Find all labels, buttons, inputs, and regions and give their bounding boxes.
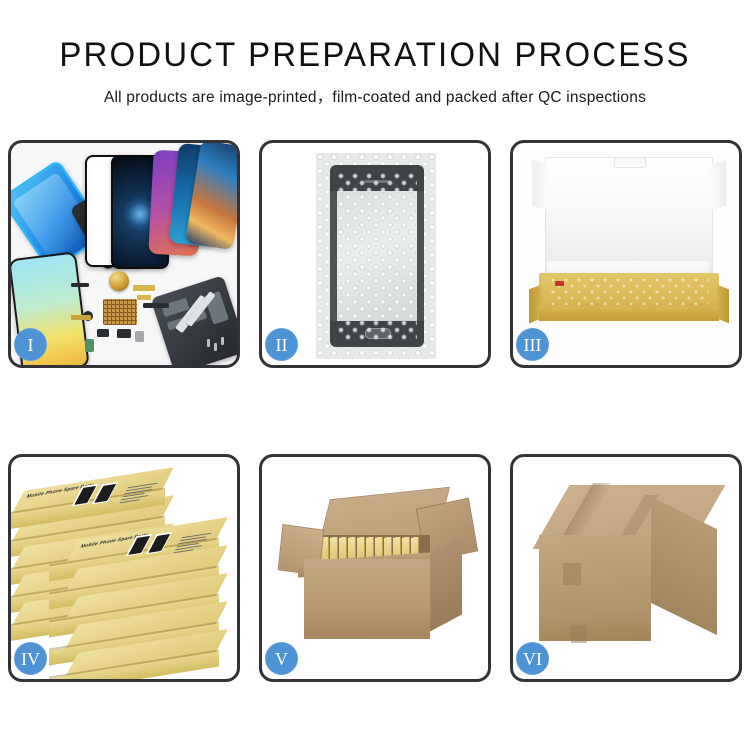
step-panel-2[interactable]: II [259, 140, 491, 368]
lid-left-wing [532, 160, 548, 211]
screw [207, 339, 210, 347]
gold-coil-part [109, 271, 129, 291]
small-part [143, 303, 169, 308]
open-shipping-carton [292, 497, 452, 642]
flex-cable [137, 295, 151, 300]
step-panel-1[interactable]: I [8, 140, 240, 368]
red-label-mark [555, 281, 564, 286]
carton-seam-mark [571, 625, 587, 643]
sealed-shipping-carton [533, 485, 725, 655]
steps-row-1: I II [8, 140, 742, 368]
carton-seam-mark [563, 563, 581, 585]
screw [214, 343, 217, 351]
small-part [85, 339, 94, 352]
steps-row-2: Mobile Phone Spare Parts Mobile Phone Sp… [8, 454, 742, 682]
page-header: PRODUCT PREPARATION PROCESS All products… [0, 0, 750, 106]
step-badge-1: I [14, 328, 47, 361]
step-panel-3[interactable]: III [510, 140, 742, 368]
page-subtitle: All products are image-printed，film-coat… [0, 90, 750, 106]
white-box-lid [545, 157, 713, 275]
screen-glass-panel [330, 165, 424, 347]
bubble-wrapped-screen-image [262, 143, 488, 365]
single-box-packed-image [513, 143, 739, 365]
box-stack: Mobile Phone Spare Parts Mobile Phone Sp… [13, 471, 237, 677]
small-part [97, 329, 109, 337]
flex-cable [133, 285, 155, 291]
step-panel-4[interactable]: Mobile Phone Spare Parts Mobile Phone Sp… [8, 454, 240, 682]
stacked-box [69, 641, 219, 661]
sealed-carton-image [513, 457, 739, 679]
carton-front-face [304, 559, 430, 639]
mesh-grid-part [103, 299, 137, 325]
wrapped-screen-in-box [549, 277, 709, 305]
screw [221, 337, 224, 345]
step-badge-2: II [265, 328, 298, 361]
page-title: PRODUCT PREPARATION PROCESS [11, 38, 739, 72]
small-part [117, 329, 131, 338]
flex-cable [71, 315, 91, 320]
bubble-overlay [337, 172, 417, 340]
step-panel-6[interactable]: VI [510, 454, 742, 682]
phone-parts-collage-image [11, 143, 237, 365]
kraft-box-tray [539, 273, 719, 321]
step-badge-6: VI [516, 642, 549, 675]
step-badge-4: IV [14, 642, 47, 675]
step-badge-3: III [516, 328, 549, 361]
process-steps-grid: I II [8, 140, 742, 682]
lid-right-wing [710, 160, 726, 211]
lid-tab [614, 157, 646, 168]
step-badge-5: V [265, 642, 298, 675]
small-part [71, 283, 89, 287]
step-panel-5[interactable]: V [259, 454, 491, 682]
stacked-box-printed: Mobile Phone Spare Parts [69, 529, 219, 549]
stacked-box-printed: Mobile Phone Spare Parts [15, 479, 165, 499]
tray-front-face [539, 306, 719, 321]
small-part [135, 331, 144, 342]
open-carton-filled-image [262, 457, 488, 679]
stacked-box [69, 557, 219, 577]
carton-right-face [430, 536, 462, 631]
stacked-box [69, 585, 219, 605]
carton-front-face [539, 535, 651, 641]
stacked-retail-boxes-image: Mobile Phone Spare Parts Mobile Phone Sp… [11, 457, 237, 679]
stacked-box [69, 613, 219, 633]
carton-right-face [651, 497, 717, 635]
